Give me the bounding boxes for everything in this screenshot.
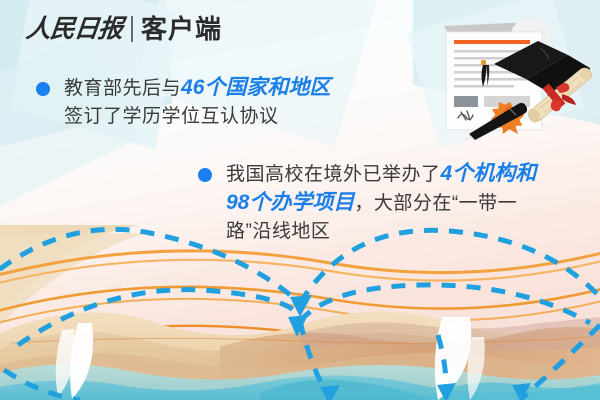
bullet-text-plain: 教育部先后与	[64, 78, 181, 99]
poster-canvas: 人民日报 客户端 教育部先后与46个国家和地区 签订了学历学位互认协议 我国高校…	[0, 0, 600, 400]
cap-tassel-knot	[481, 60, 486, 65]
bullet-text-plain: ，大部分在“一带一	[354, 193, 517, 214]
bullet-text-highlight: 98个办学项目	[226, 191, 354, 214]
certificate-signature-block-left	[454, 96, 478, 107]
bullet-item-1: 教育部先后与46个国家和地区 签订了学历学位互认协议	[36, 74, 428, 131]
brand-logo-separator	[131, 16, 133, 42]
bullet-text-plain: 我国高校在境外已举办了	[226, 164, 441, 185]
certificate-orange-header-bar	[454, 40, 530, 44]
bullet-line: 路”沿线地区	[226, 218, 536, 246]
brand-logo-mark: 人民日报	[25, 17, 124, 42]
brand-logo-sub: 客户端	[141, 16, 222, 42]
bullet-text-plain: 路”沿线地区	[226, 221, 330, 242]
bullet-line: 我国高校在境外已举办了4个机构和	[226, 160, 536, 189]
bullet-text-highlight: 4个机构和	[441, 162, 537, 185]
bullet-item-2: 我国高校在境外已举办了4个机构和 98个办学项目，大部分在“一带一 路”沿线地区	[198, 160, 580, 246]
silk-road-scene	[0, 225, 600, 400]
dune-top-left-2	[0, 233, 150, 325]
bullet-line: 98个办学项目，大部分在“一带一	[226, 189, 536, 218]
graduation-certificate-illustration	[422, 8, 592, 140]
bullet-line: 签订了学历学位互认协议	[64, 103, 330, 131]
bullet-dot-icon	[198, 168, 212, 182]
bullet-text-highlight: 46个国家和地区	[181, 76, 330, 99]
bullet-text-2: 我国高校在境外已举办了4个机构和 98个办学项目，大部分在“一带一 路”沿线地区	[226, 160, 536, 246]
brand-logo: 人民日报 客户端	[26, 12, 222, 46]
bullet-text-1: 教育部先后与46个国家和地区 签订了学历学位互认协议	[64, 74, 330, 131]
bullet-line: 教育部先后与46个国家和地区	[64, 74, 330, 103]
bullet-dot-icon	[36, 82, 50, 96]
bullet-text-plain: 签订了学历学位互认协议	[64, 106, 279, 127]
